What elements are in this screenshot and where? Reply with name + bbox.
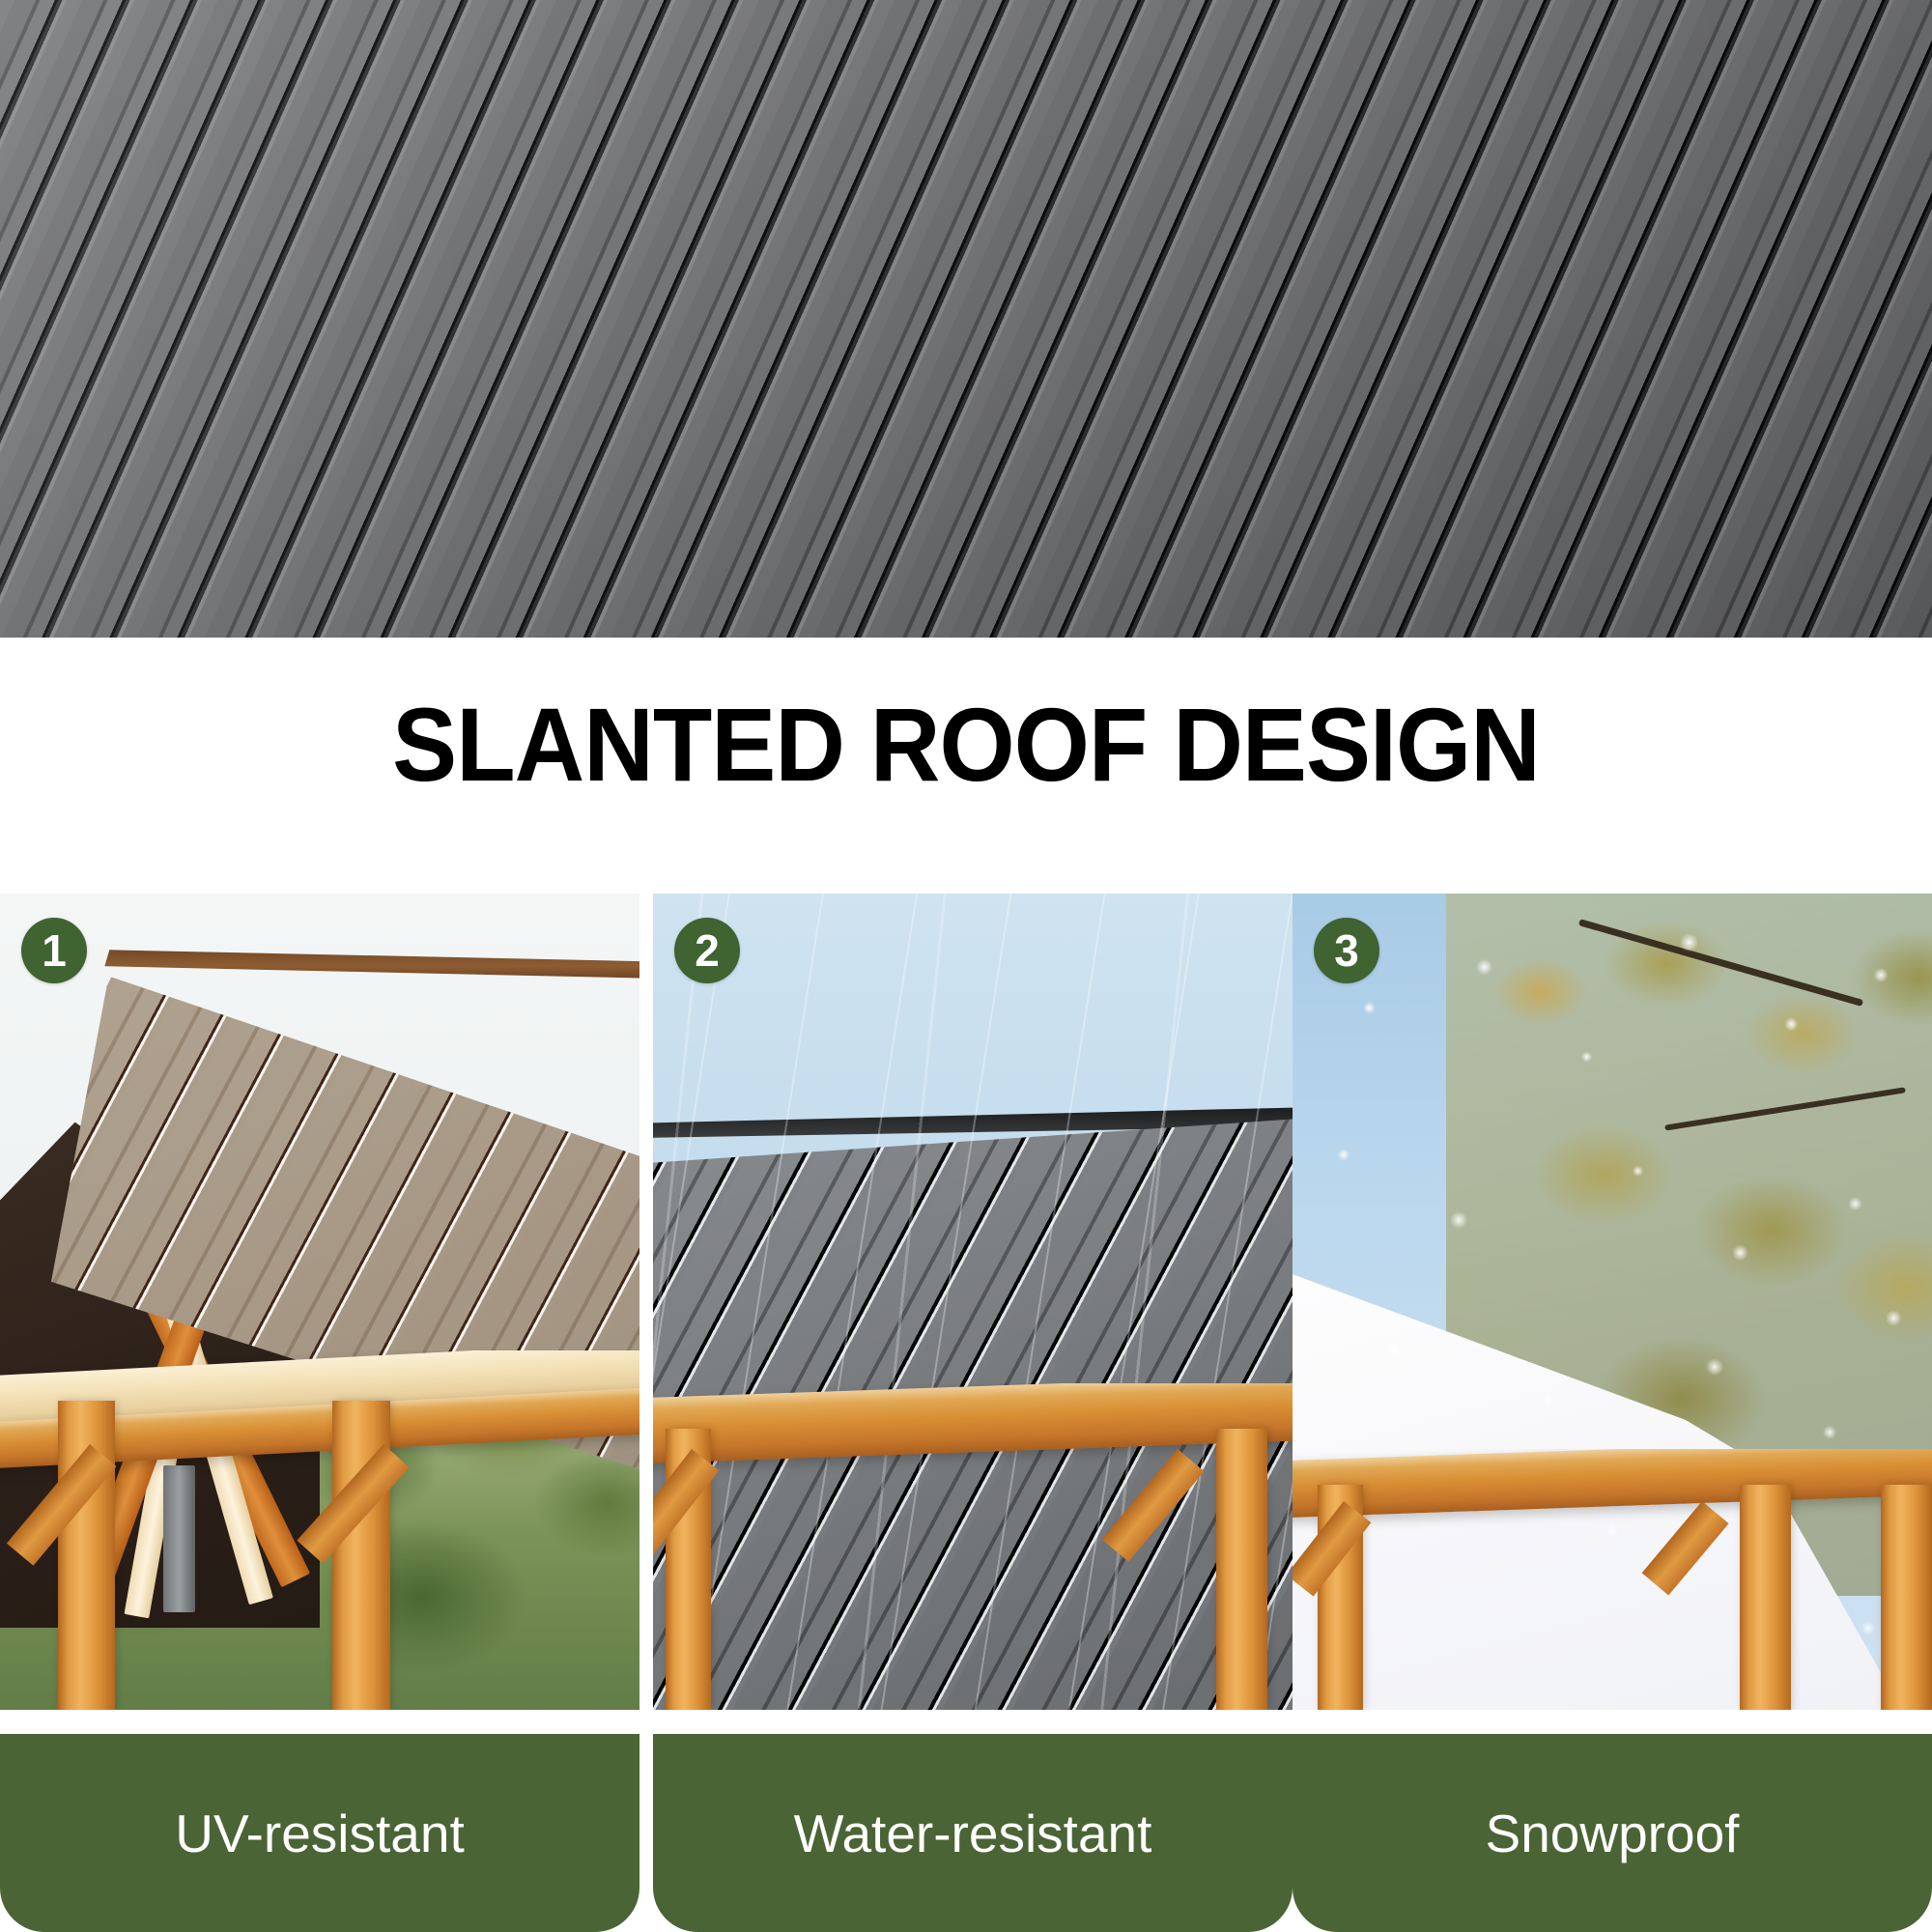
wood-post-right (1216, 1429, 1267, 1710)
feature-panel-uv-resistant[interactable]: 1 UV-resistant (0, 894, 639, 1932)
wood-frame-structure (0, 1350, 639, 1710)
panel-3-photo: 3 (1293, 894, 1932, 1710)
feature-panel-snowproof[interactable]: 3 Snowproof (1293, 894, 1932, 1932)
corner-brace-right (1641, 1501, 1728, 1596)
orange-header-beam (1293, 1449, 1932, 1519)
page-title: SLANTED ROOF DESIGN (68, 688, 1864, 802)
feature-panel-water-resistant[interactable]: 2 Water-resistant (653, 894, 1293, 1932)
panel-1-photo: 1 (0, 894, 639, 1710)
feature-panel-row: 1 UV-resistant 2 Water-resistant (0, 894, 1932, 1932)
panel-number-badge-1: 1 (21, 918, 87, 983)
panel-number-badge-2: 2 (674, 918, 740, 983)
panel-label-uv-resistant: UV-resistant (0, 1734, 639, 1932)
panel-number-badge-3: 3 (1314, 918, 1379, 983)
corner-brace-right (1102, 1449, 1205, 1562)
orange-header-beam (653, 1383, 1293, 1464)
wood-frame-structure (653, 1383, 1293, 1710)
panel-label-snowproof: Snowproof (1293, 1734, 1932, 1932)
metal-sheen-overlay (0, 0, 1932, 638)
wood-post-right (1881, 1485, 1932, 1710)
panel-label-water-resistant: Water-resistant (653, 1734, 1293, 1932)
wood-frame-structure (1293, 1449, 1932, 1710)
hero-metal-roof-banner (0, 0, 1932, 638)
wood-post-mid (1740, 1485, 1791, 1710)
panel-2-photo: 2 (653, 894, 1293, 1710)
